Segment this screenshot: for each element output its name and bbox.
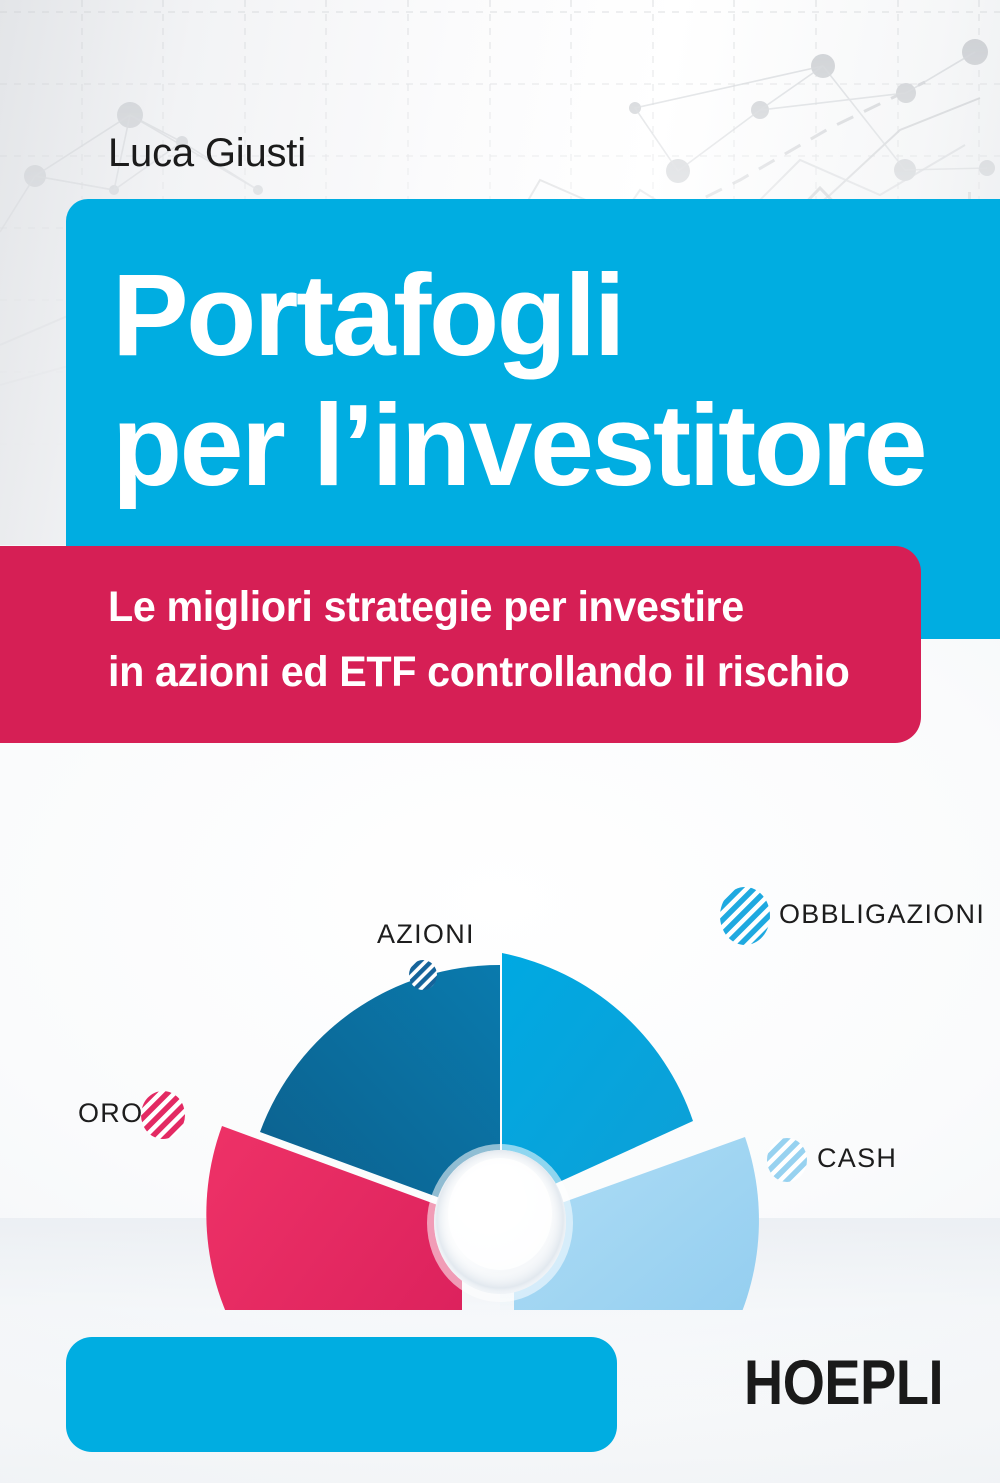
author-name: Luca Giusti [108, 133, 306, 173]
title-line-1: Portafogli [112, 257, 623, 373]
legend-marker-azioni [409, 960, 437, 990]
bottom-accent-bar [66, 1337, 617, 1452]
legend-marker-oro [141, 1091, 185, 1139]
publisher-logo: HOEPLI [744, 1352, 943, 1415]
legend-label-azioni: AZIONI [377, 919, 475, 950]
subtitle-banner: Le migliori strategie per investire in a… [0, 546, 921, 743]
subtitle-line-2: in azioni ed ETF controllando il rischio [108, 651, 849, 694]
subtitle-line-1: Le migliori strategie per investire [108, 586, 744, 629]
portfolio-pie-chart [0, 790, 1000, 1310]
book-cover: Luca Giusti Portafogli per l’investitore… [0, 0, 1000, 1483]
legend-marker-cash [767, 1138, 807, 1182]
legend-label-obbligazioni: OBBLIGAZIONI [779, 899, 985, 930]
legend-marker-obbligazioni [720, 887, 770, 945]
title-line-2: per l’investitore [112, 387, 925, 503]
legend-label-cash: CASH [817, 1143, 897, 1174]
pie-center-hub [427, 1144, 573, 1302]
legend-label-oro: ORO [78, 1098, 143, 1129]
